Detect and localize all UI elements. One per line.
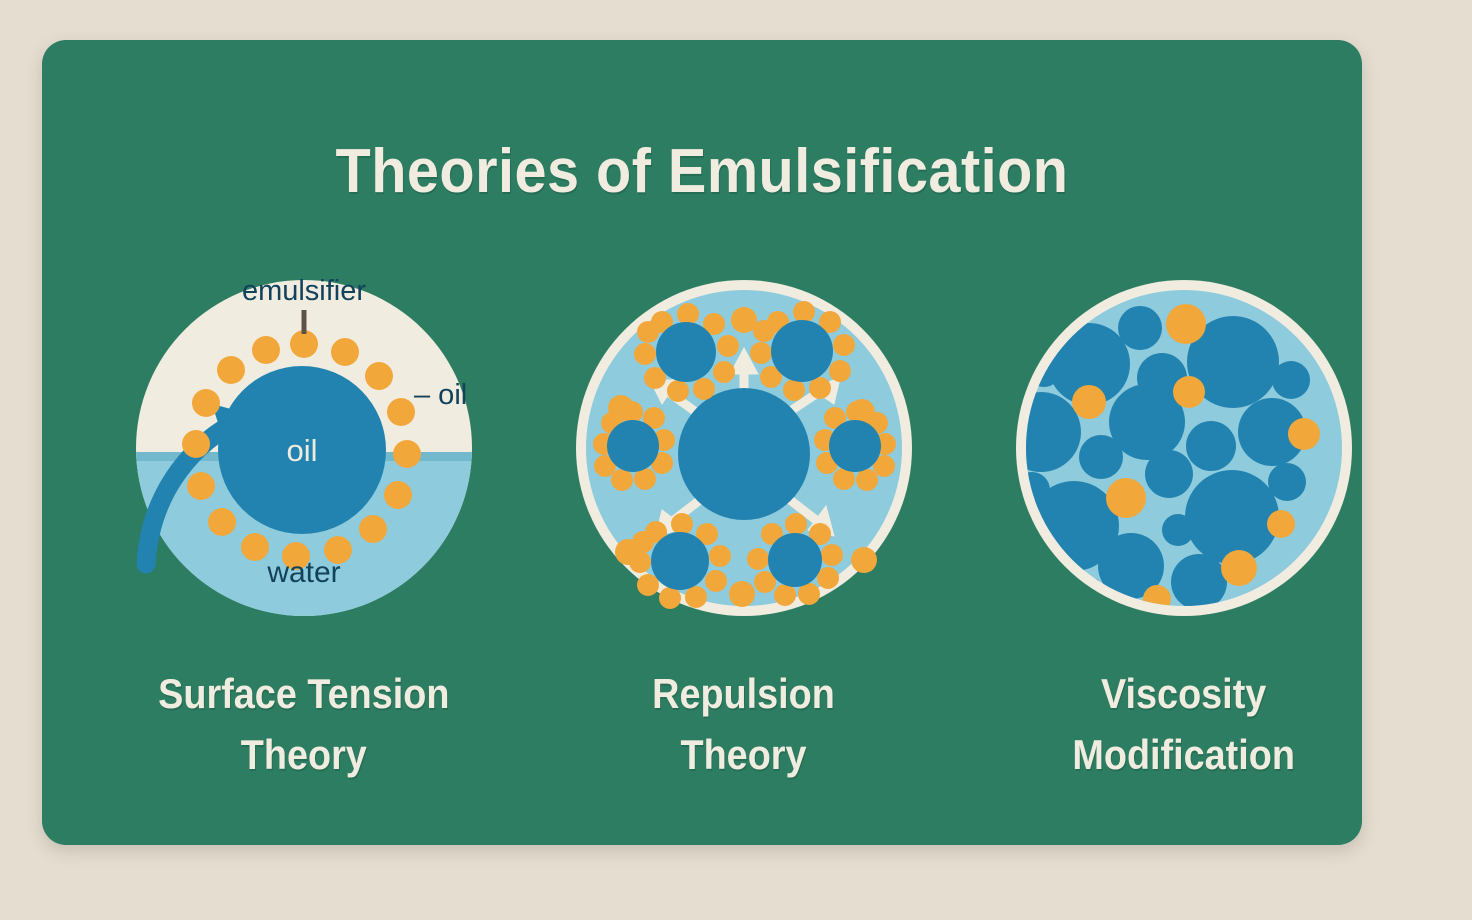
panel-viscosity: Viscosity Modification [984,252,1384,786]
label-oil-outside: – oil [414,379,467,411]
caption-line-1: Repulsion [653,664,836,725]
caption-line-1: Surface Tension [158,664,449,725]
panel-repulsion: Repulsion Theory [544,252,944,786]
caption-surface-tension: Surface Tension Theory [158,664,449,786]
green-panel: Theories of Emulsification [42,40,1362,845]
diagram-canvas: Theories of Emulsification [0,0,1472,920]
caption-line-2: Theory [158,725,449,786]
panel-surface-tension: emulsifier – oil oil water Surface Tensi… [104,252,504,786]
label-oil-inside: oil [286,433,317,468]
label-emulsifier: emulsifier [242,275,366,307]
caption-line-2: Theory [653,725,836,786]
caption-line-2: Modification [1073,725,1296,786]
caption-line-1: Viscosity [1073,664,1296,725]
panel-columns: emulsifier – oil oil water Surface Tensi… [84,252,1404,812]
label-water: water [266,556,340,589]
figure-repulsion [544,252,944,652]
caption-repulsion: Repulsion Theory [653,664,836,786]
page-title: Theories of Emulsification [88,136,1316,207]
figure-viscosity [984,252,1384,652]
caption-viscosity: Viscosity Modification [1073,664,1296,786]
central-droplet [678,388,810,520]
figure-surface-tension: emulsifier – oil oil water [104,252,504,652]
